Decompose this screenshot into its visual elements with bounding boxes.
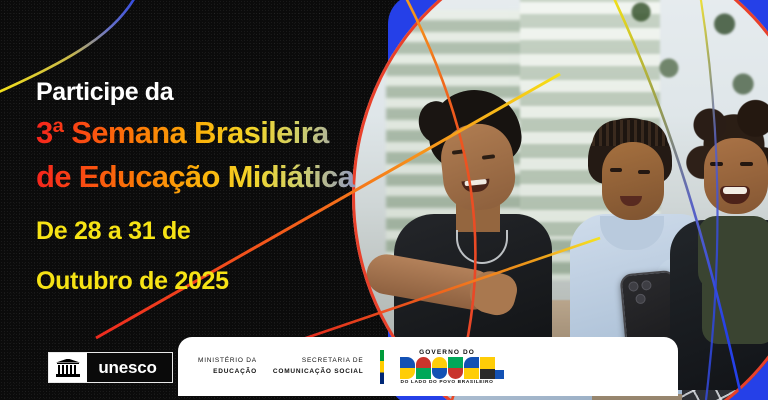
gov-top-text: GOVERNO DO bbox=[419, 349, 475, 356]
brasil-wordmark bbox=[400, 357, 495, 379]
person-middle-face bbox=[602, 142, 664, 220]
event-dates-line-2: Outubro de 2025 bbox=[36, 266, 436, 297]
ministry-of-education-logo[interactable]: MINISTÉRIO DA EDUCAÇÃO bbox=[198, 356, 257, 376]
unesco-logo[interactable]: unesco bbox=[48, 352, 173, 383]
person-right-eye bbox=[740, 162, 753, 166]
secom-logo[interactable]: SECRETARIA DE COMUNICAÇÃO SOCIAL bbox=[273, 356, 364, 376]
governo-do-brasil-logo[interactable]: GOVERNO DO DO LADO DO POVO BRASILEIRO bbox=[400, 349, 495, 385]
brasil-letter-s bbox=[448, 357, 463, 379]
event-dates-line-1: De 28 a 31 de bbox=[36, 216, 436, 247]
person-middle-eye bbox=[638, 170, 650, 174]
brasil-letter-a bbox=[432, 357, 447, 379]
brasil-letter-b bbox=[400, 357, 415, 379]
person-middle-eye bbox=[610, 168, 622, 172]
mec-line-1: MINISTÉRIO DA bbox=[198, 356, 257, 366]
unesco-temple-icon bbox=[49, 353, 87, 382]
brasil-letter-l bbox=[480, 357, 495, 379]
headline-line-1: 3ª Semana Brasileira bbox=[36, 115, 436, 152]
campaign-banner: Participe da 3ª Semana Brasileira de Edu… bbox=[0, 0, 768, 400]
secom-line-2: COMUNICAÇÃO SOCIAL bbox=[273, 367, 364, 377]
headline-block: Participe da 3ª Semana Brasileira de Edu… bbox=[36, 78, 436, 297]
person-right-eye bbox=[710, 162, 723, 166]
government-footer-bar: MINISTÉRIO DA EDUCAÇÃO SECRETARIA DE COM… bbox=[178, 337, 678, 396]
gov-bottom-text: DO LADO DO POVO BRASILEIRO bbox=[401, 380, 494, 385]
secom-line-1: SECRETARIA DE bbox=[273, 356, 364, 366]
person-right-turtleneck bbox=[698, 216, 768, 290]
brazil-flag-stripe bbox=[380, 350, 384, 384]
unesco-wordmark: unesco bbox=[87, 353, 172, 382]
phone-camera-icon bbox=[628, 280, 656, 308]
headline-line-2: de Educação Midiática bbox=[36, 159, 436, 196]
brasil-letter-i bbox=[464, 357, 479, 379]
kicker-text: Participe da bbox=[36, 78, 436, 107]
mec-line-2: EDUCAÇÃO bbox=[198, 367, 257, 377]
brasil-letter-r bbox=[416, 357, 431, 379]
